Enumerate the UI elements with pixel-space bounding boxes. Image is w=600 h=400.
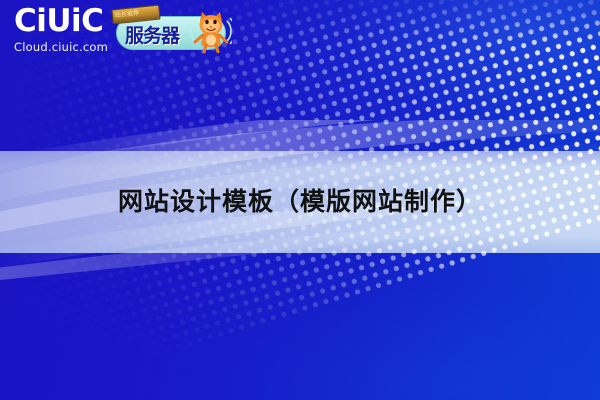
banner-image: CiUiC Cloud.ciuic.com 服务器 站长推荐 (0, 0, 600, 400)
server-badge: 服务器 站长推荐 (116, 16, 226, 50)
badge-ribbon-label: 站长推荐 (114, 8, 139, 19)
badge-label: 服务器 (125, 21, 179, 48)
orange-cat-mascot-icon (190, 9, 232, 53)
page-title: 网站设计模板（模版网站制作） (0, 186, 600, 218)
